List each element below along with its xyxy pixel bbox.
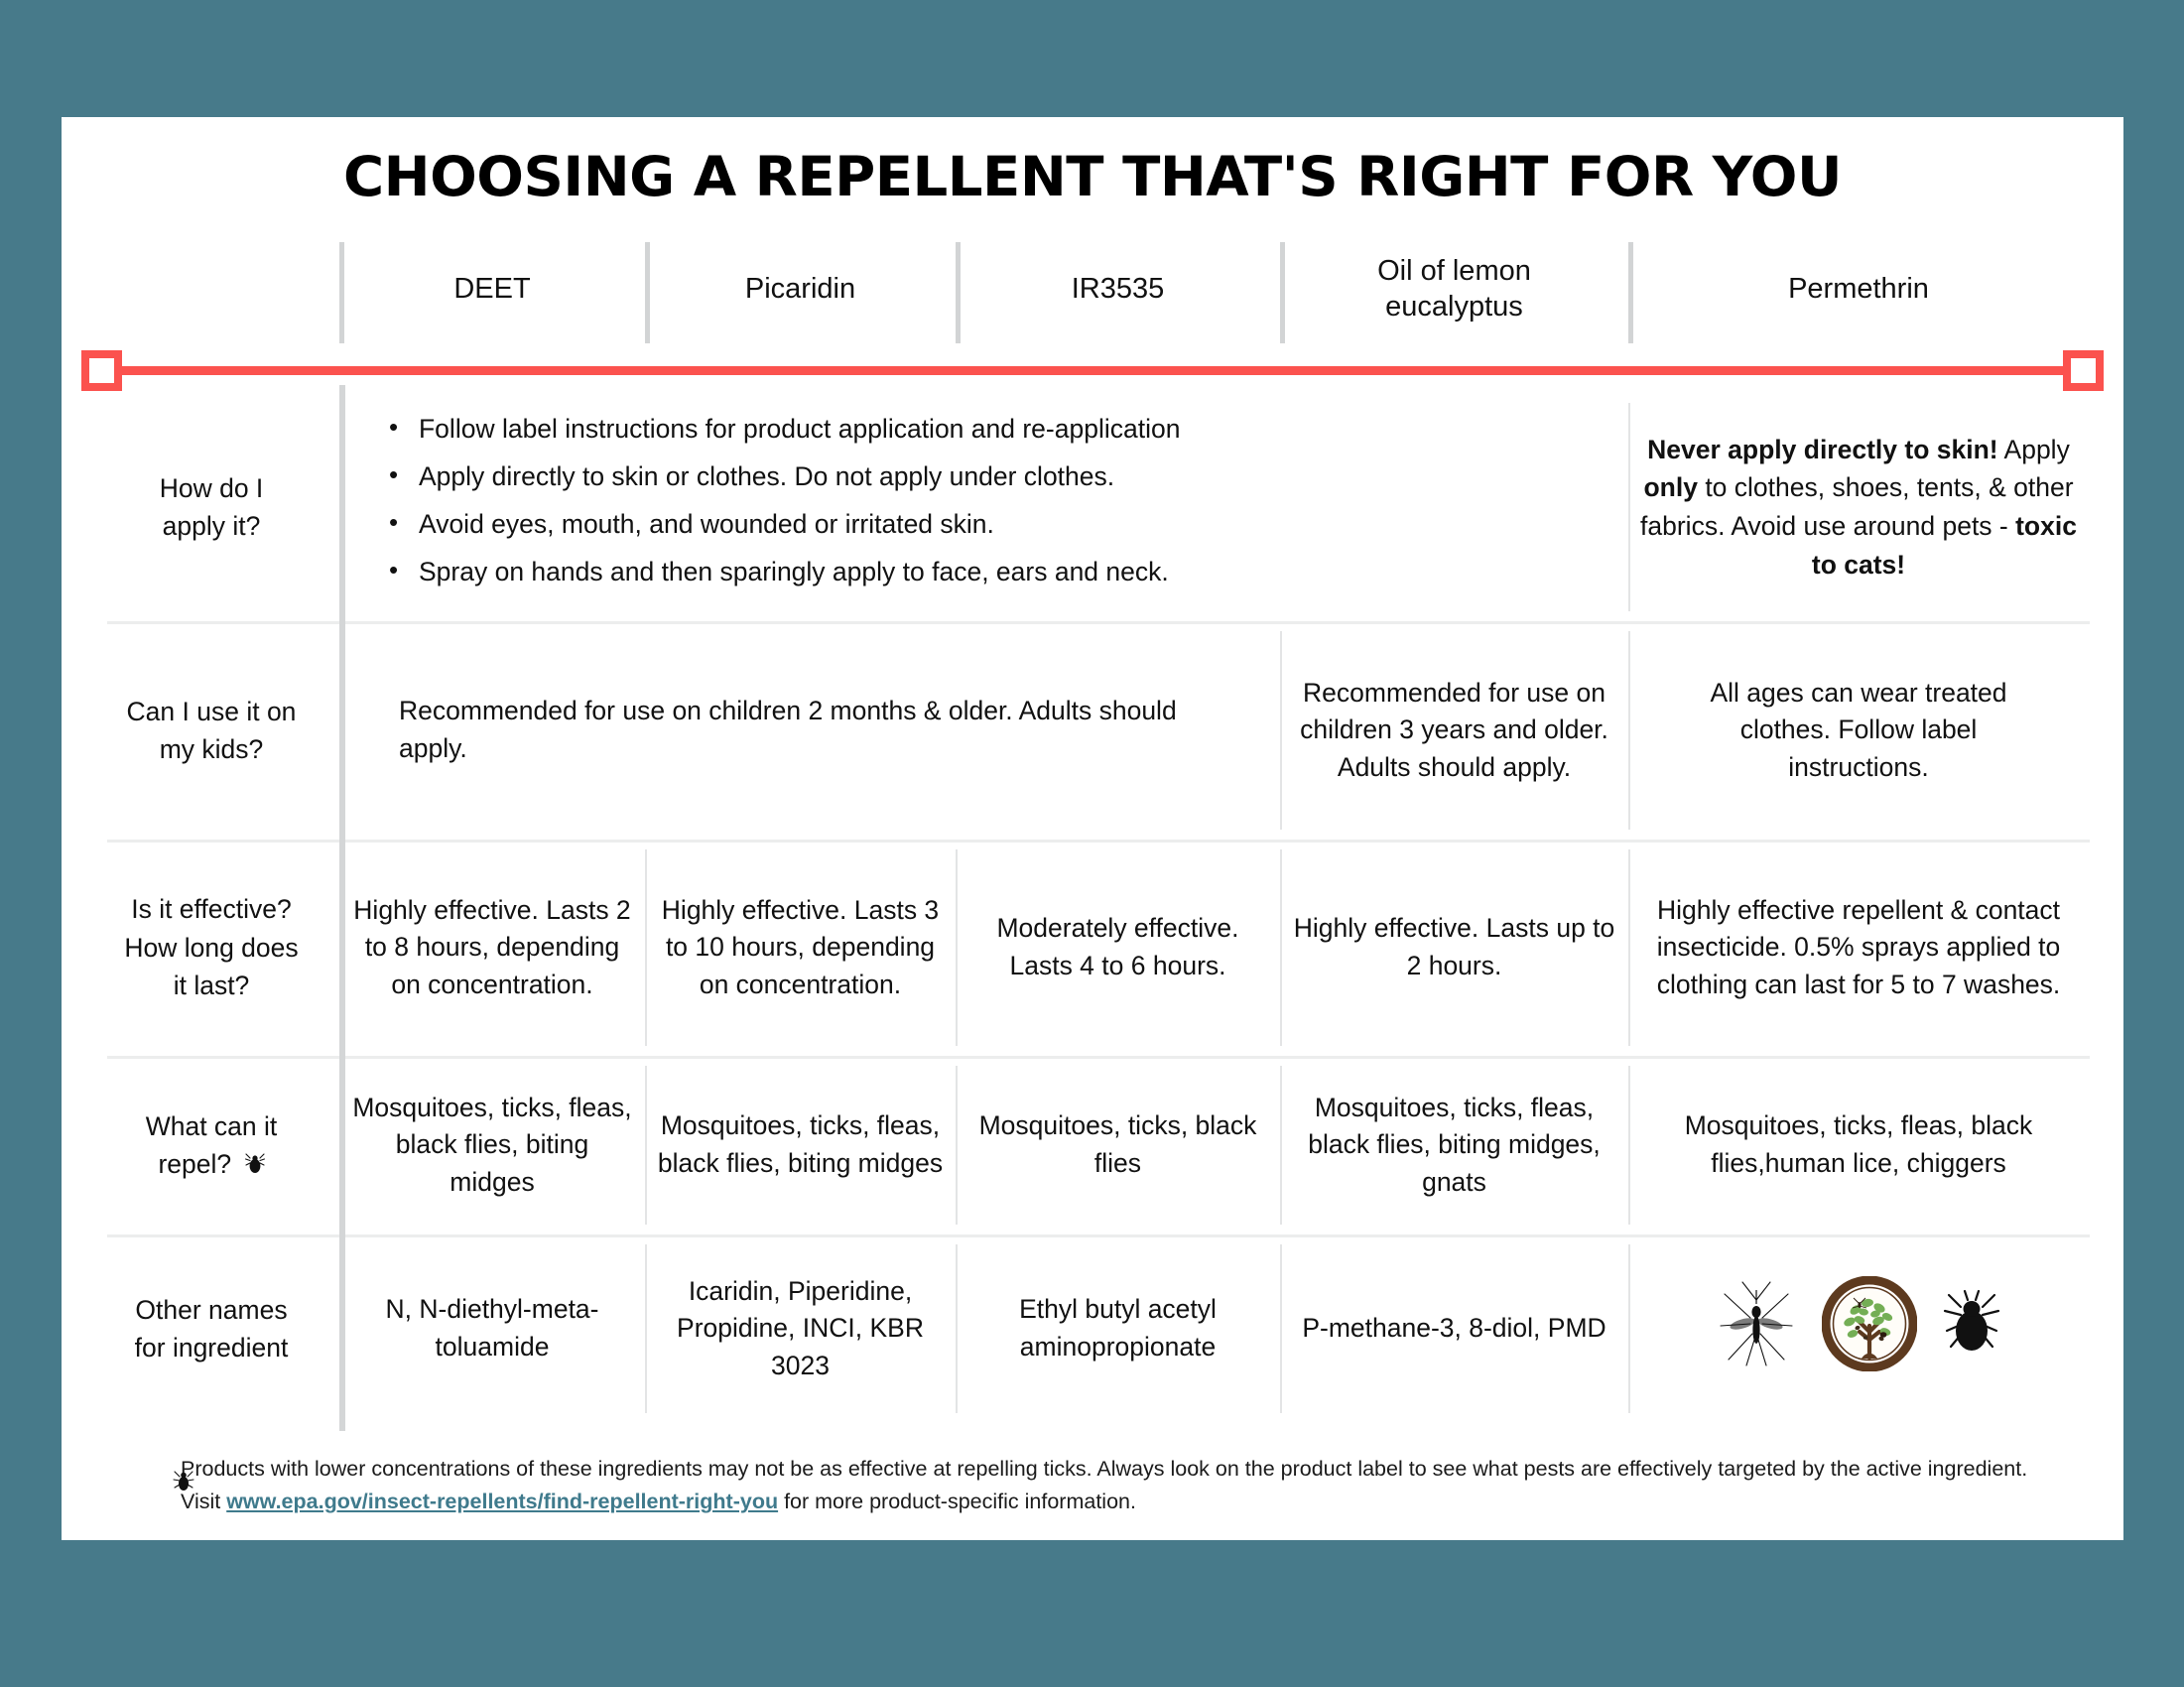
cell-repel-permethrin: Mosquitoes, ticks, fleas, black flies,hu… — [1628, 1056, 2089, 1234]
row-label-other-names: Other names for ingredient — [83, 1234, 339, 1423]
mosquito-icon — [1713, 1278, 1800, 1380]
apply-bullet: Avoid eyes, mouth, and wounded or irrita… — [381, 507, 1180, 543]
row-label-repel-line1: What can it — [146, 1107, 278, 1145]
cell-apply-general: Follow label instructions for product ap… — [339, 393, 1628, 621]
cell-effective-ole: Highly effective. Lasts up to 2 hours. — [1280, 840, 1628, 1056]
table-row-repel: What can it repel? Mosquitoes, ticks, — [62, 1056, 2123, 1234]
row-label-kids-line2: my kids? — [127, 730, 297, 768]
row-label-repel: What can it repel? — [83, 1056, 339, 1234]
apply-bullet: Spray on hands and then sparingly apply … — [381, 555, 1180, 590]
column-header-deet: DEET — [339, 230, 645, 347]
cell-effective-ir3535: Moderately effective. Lasts 4 to 6 hours… — [956, 840, 1280, 1056]
apply-permethrin-text2: to clothes, shoes, tents, & other fabric… — [1640, 472, 2074, 541]
neverc-seal-logo — [1822, 1276, 1917, 1382]
column-header-picaridin: Picaridin — [645, 230, 956, 347]
cell-kids-ole: Recommended for use on children 3 years … — [1280, 621, 1628, 840]
cell-repel-ole: Mosquitoes, ticks, fleas, black flies, b… — [1280, 1056, 1628, 1234]
header-spacer — [83, 230, 339, 347]
cell-effective-picaridin: Highly effective. Lasts 3 to 10 hours, d… — [645, 840, 956, 1056]
cell-repel-deet: Mosquitoes, ticks, fleas, black flies, b… — [339, 1056, 645, 1234]
page-title: CHOOSING A REPELLENT THAT'S RIGHT FOR YO… — [41, 117, 2144, 208]
tick-icon — [1939, 1285, 2004, 1373]
table-row-effective: Is it effective? How long does it last? … — [62, 840, 2123, 1056]
column-header-oil-of-lemon-eucalyptus: Oil of lemon eucalyptus — [1280, 230, 1628, 347]
row-label-kids: Can I use it on my kids? — [83, 621, 339, 840]
epa-repellent-link[interactable]: www.epa.gov/insect-repellents/find-repel… — [226, 1490, 778, 1513]
cell-names-ir3535: Ethyl butyl acetyl aminopropionate — [956, 1234, 1280, 1423]
tick-icon — [245, 1153, 265, 1175]
row-label-effective: Is it effective? How long does it last? — [83, 840, 339, 1056]
footer-note: Products with lower concentrations of th… — [62, 1431, 2123, 1519]
apply-permethrin-bold2: only — [1643, 472, 1697, 502]
cell-apply-permethrin: Never apply directly to skin! Apply only… — [1628, 393, 2089, 621]
table-row-apply: How do I apply it? Follow label instruct… — [62, 393, 2123, 621]
cell-kids-permethrin: All ages can wear treated clothes. Follo… — [1628, 621, 2089, 840]
accent-divider-cap-left — [81, 350, 122, 391]
cell-names-permethrin-logos — [1628, 1234, 2089, 1423]
cell-names-ole: P-methane-3, 8-diol, PMD — [1280, 1234, 1628, 1423]
accent-divider-cap-right — [2063, 350, 2104, 391]
apply-bullet-list: Follow label instructions for product ap… — [381, 412, 1180, 601]
row-label-repel-line2: repel? — [158, 1149, 231, 1179]
apply-bullet: Follow label instructions for product ap… — [381, 412, 1180, 448]
accent-divider-line — [91, 366, 2094, 375]
cell-names-deet: N, N-diethyl-meta-toluamide — [339, 1234, 645, 1423]
table-row-other-names: Other names for ingredient N, N-diethyl-… — [62, 1234, 2123, 1423]
table-row-kids: Can I use it on my kids? Recommended for… — [62, 621, 2123, 840]
cell-effective-permethrin: Highly effective repellent & contact ins… — [1628, 840, 2089, 1056]
row-label-apply-line2: apply it? — [160, 507, 264, 545]
row-label-kids-line1: Can I use it on — [127, 693, 297, 730]
cell-repel-picaridin: Mosquitoes, ticks, fleas, black flies, b… — [645, 1056, 956, 1234]
ole-header-line2: eucalyptus — [1377, 289, 1531, 324]
cell-effective-deet: Highly effective. Lasts 2 to 8 hours, de… — [339, 840, 645, 1056]
apply-bullet: Apply directly to skin or clothes. Do no… — [381, 459, 1180, 495]
tick-icon — [173, 1469, 194, 1504]
ole-header-line1: Oil of lemon — [1377, 253, 1531, 289]
row-label-effective-line1: Is it effective? — [124, 890, 298, 928]
logo-group — [1713, 1276, 2004, 1382]
row-label-effective-line3: it last? — [124, 967, 298, 1004]
infographic-card: CHOOSING A REPELLENT THAT'S RIGHT FOR YO… — [62, 117, 2123, 1540]
cell-names-picaridin: Icaridin, Piperidine, Propidine, INCI, K… — [645, 1234, 956, 1423]
comparison-table: DEET Picaridin IR3535 Oil of lemon eucal… — [62, 230, 2123, 1423]
row-label-apply-line1: How do I — [160, 469, 264, 507]
row-label-other-names-line2: for ingredient — [135, 1329, 289, 1366]
row-label-effective-line2: How long does — [124, 929, 298, 967]
cell-kids-deet-picaridin-ir3535: Recommended for use on children 2 months… — [339, 621, 1280, 840]
column-header-ir3535: IR3535 — [956, 230, 1280, 347]
footer-text-after-link: for more product-specific information. — [778, 1490, 1136, 1513]
cell-repel-ir3535: Mosquitoes, ticks, black flies — [956, 1056, 1280, 1234]
apply-permethrin-bold1: Never apply directly to skin! — [1647, 435, 1997, 464]
column-header-permethrin: Permethrin — [1628, 230, 2089, 347]
accent-divider — [62, 347, 2123, 393]
row-label-apply: How do I apply it? — [83, 393, 339, 621]
apply-permethrin-text1: Apply — [1998, 435, 2070, 464]
table-header-row: DEET Picaridin IR3535 Oil of lemon eucal… — [62, 230, 2123, 347]
row-label-other-names-line1: Other names — [135, 1291, 289, 1329]
